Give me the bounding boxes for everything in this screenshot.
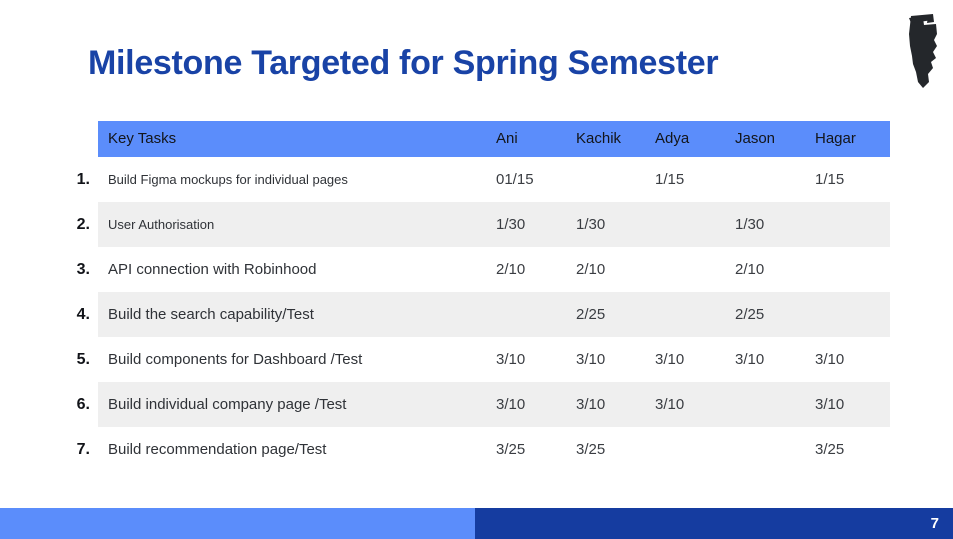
column-header-ani: Ani xyxy=(496,121,518,157)
row-task: Build Figma mockups for individual pages xyxy=(108,157,348,202)
table-row: 5. Build components for Dashboard /Test … xyxy=(98,337,890,382)
row-number: 7. xyxy=(68,427,90,472)
cell-hagar: 3/10 xyxy=(815,382,844,427)
column-header-hagar: Hagar xyxy=(815,121,856,157)
table-row: 6. Build individual company page /Test 3… xyxy=(98,382,890,427)
cell-ani: 1/30 xyxy=(496,202,525,247)
row-task: API connection with Robinhood xyxy=(108,247,316,292)
cell-kachik: 3/10 xyxy=(576,337,605,382)
column-header-key-tasks: Key Tasks xyxy=(108,121,176,157)
cell-kachik: 3/25 xyxy=(576,427,605,472)
company-logo xyxy=(903,12,945,92)
row-task: Build individual company page /Test xyxy=(108,382,346,427)
cell-kachik: 1/30 xyxy=(576,202,605,247)
table-row: 4. Build the search capability/Test 2/25… xyxy=(98,292,890,337)
table-row: 3. API connection with Robinhood 2/10 2/… xyxy=(98,247,890,292)
row-number: 6. xyxy=(68,382,90,427)
footer-bar-left xyxy=(0,508,475,539)
cell-hagar: 3/25 xyxy=(815,427,844,472)
cell-jason: 2/10 xyxy=(735,247,764,292)
row-task: Build the search capability/Test xyxy=(108,292,314,337)
cell-adya: 1/15 xyxy=(655,157,684,202)
row-number: 4. xyxy=(68,292,90,337)
cell-kachik: 2/25 xyxy=(576,292,605,337)
column-header-adya: Adya xyxy=(655,121,689,157)
cell-jason: 3/10 xyxy=(735,337,764,382)
cell-adya: 3/10 xyxy=(655,337,684,382)
row-task: User Authorisation xyxy=(108,202,214,247)
row-number: 3. xyxy=(68,247,90,292)
row-task: Build recommendation page/Test xyxy=(108,427,326,472)
cell-jason: 2/25 xyxy=(735,292,764,337)
table-row: 2. User Authorisation 1/30 1/30 1/30 xyxy=(98,202,890,247)
cell-hagar: 3/10 xyxy=(815,337,844,382)
page-number: 7 xyxy=(931,509,939,538)
cell-ani: 3/10 xyxy=(496,337,525,382)
column-header-kachik: Kachik xyxy=(576,121,621,157)
page-title: Milestone Targeted for Spring Semester xyxy=(88,44,718,83)
cell-ani: 3/10 xyxy=(496,382,525,427)
milestone-table: Key Tasks Ani Kachik Adya Jason Hagar 1.… xyxy=(98,121,890,472)
column-header-jason: Jason xyxy=(735,121,775,157)
row-number: 2. xyxy=(68,202,90,247)
table-header-row: Key Tasks Ani Kachik Adya Jason Hagar xyxy=(98,121,890,157)
table-row: 1. Build Figma mockups for individual pa… xyxy=(98,157,890,202)
table-row: 7. Build recommendation page/Test 3/25 3… xyxy=(98,427,890,472)
cell-hagar: 1/15 xyxy=(815,157,844,202)
footer-bar-right xyxy=(475,508,953,539)
row-task: Build components for Dashboard /Test xyxy=(108,337,362,382)
cell-kachik: 3/10 xyxy=(576,382,605,427)
row-number: 1. xyxy=(68,157,90,202)
slide-canvas: Milestone Targeted for Spring Semester K… xyxy=(0,0,953,539)
cell-adya: 3/10 xyxy=(655,382,684,427)
cell-ani: 3/25 xyxy=(496,427,525,472)
row-number: 5. xyxy=(68,337,90,382)
cell-jason: 1/30 xyxy=(735,202,764,247)
cell-ani: 2/10 xyxy=(496,247,525,292)
cell-kachik: 2/10 xyxy=(576,247,605,292)
cell-ani: 01/15 xyxy=(496,157,534,202)
